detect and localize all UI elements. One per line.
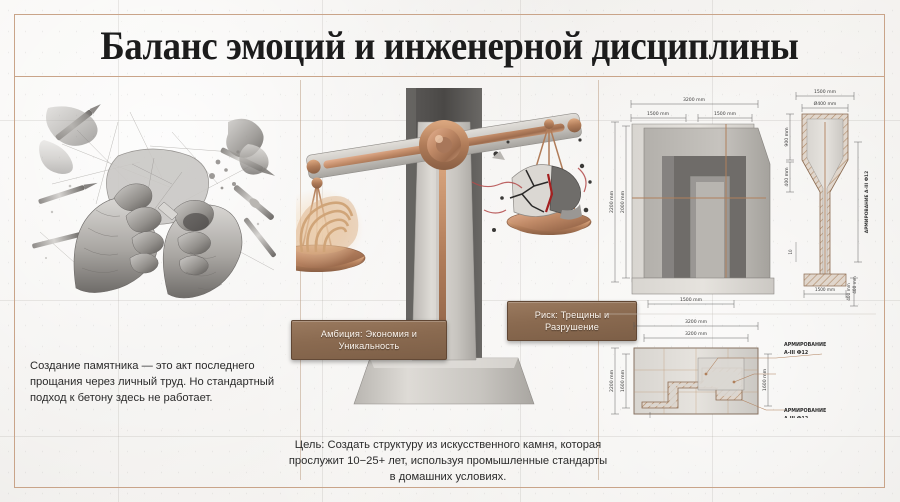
dim-plan-outer-width: 3200 mm — [685, 319, 708, 325]
dim-plan-inner-height: 1600 mm — [620, 369, 626, 392]
plaque-ambition: Амбиция: Экономия и Уникальность — [291, 320, 447, 360]
dim-section-small-mark: 10 — [788, 249, 793, 255]
title-band: Баланс эмоций и инженерной дисциплины — [14, 14, 885, 76]
dim-elev-left-span: 1500 mm — [647, 111, 670, 117]
dim-section-foot: 400 mm — [852, 276, 857, 293]
balance-scale-illustration — [296, 82, 596, 412]
page-title: Баланс эмоций и инженерной дисциплины — [100, 22, 798, 69]
title-underline-rule — [14, 76, 885, 77]
label-plan-rebar-top: АРМИРОВАНИЕ — [784, 342, 826, 348]
dim-plan-inner-width: 3200 mm — [685, 331, 708, 337]
technical-drawings-panel: 3200 mm 1500 mm 1500 mm — [606, 82, 888, 418]
dim-plan-outer-height: 2200 mm — [609, 369, 615, 392]
label-plan-rebar-spec-bottom: A-III Ф12 — [784, 416, 808, 418]
dim-section-upper-height: 900 mm — [784, 127, 790, 147]
poster-root: Баланс эмоций и инженерной дисциплины — [0, 0, 900, 502]
panel-divider-right — [598, 80, 599, 480]
dim-plan-pile-note: Ø400 mm — [663, 417, 685, 418]
dim-elev-inner-height: 2000 mm — [620, 190, 626, 213]
dim-elev-base-width: 1500 mm — [680, 297, 703, 303]
dim-elev-top-total: 3200 mm — [683, 97, 706, 103]
sketch-hands-illustration — [22, 92, 290, 302]
dim-plan-right-height: 1600 mm — [762, 368, 768, 391]
dim-section-width: 1500 mm — [814, 89, 837, 95]
left-panel-caption: Создание памятника — это акт последнего … — [30, 358, 292, 407]
dim-side-400: 400 mm — [846, 283, 851, 300]
label-plan-rebar-bottom: АРМИРОВАНИЕ — [784, 408, 826, 414]
dim-elev-right-span: 1500 mm — [714, 111, 737, 117]
label-side-rebar: АРМИРОВАНИЕ A-III Ф12 — [864, 171, 870, 233]
goal-caption: Цель: Создать структуру из искусственног… — [288, 437, 608, 486]
dim-section-lower-height: 400 mm — [784, 167, 790, 187]
label-plan-rebar-spec-top: A-III Ф12 — [784, 350, 808, 356]
dim-section-diameter: Ø400 mm — [814, 100, 837, 107]
dim-elev-outer-height: 2200 mm — [609, 190, 615, 213]
dim-section-base-width: 1500 mm — [815, 287, 835, 292]
